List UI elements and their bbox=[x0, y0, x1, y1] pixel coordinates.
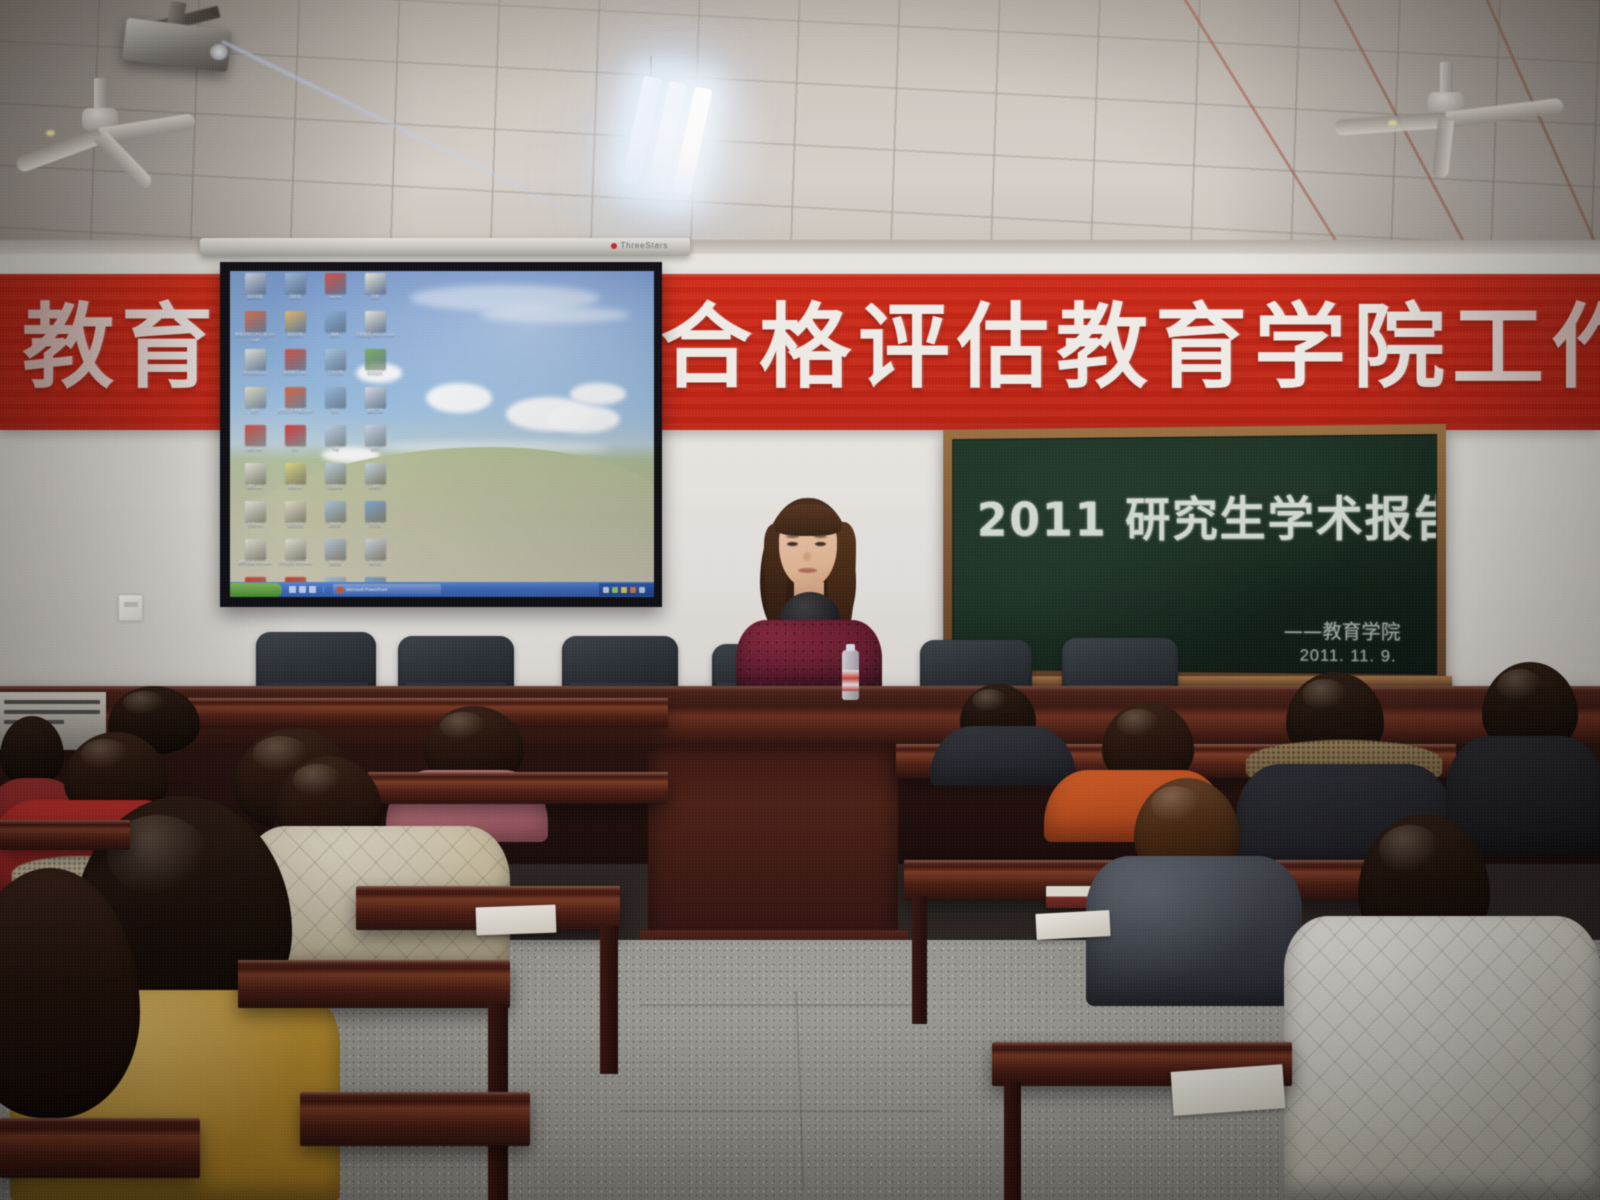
desktop-icon-label: 教学大纲 2011.doc bbox=[234, 561, 276, 566]
fan-light-glint bbox=[46, 130, 55, 136]
desktop-icon[interactable]: 报告.doc bbox=[234, 425, 276, 452]
desktop-icon-glyph bbox=[245, 387, 266, 408]
desktop-icon-glyph bbox=[365, 425, 386, 446]
desktop-icon-glyph bbox=[285, 273, 306, 294]
blackboard-attribution: ——教育学院 bbox=[1284, 620, 1401, 644]
desktop-icon[interactable]: 本科教学.doc bbox=[274, 349, 316, 376]
bottle-label bbox=[842, 670, 859, 691]
desktop-icon-glyph bbox=[365, 387, 386, 408]
desktop-icon-glyph bbox=[245, 311, 266, 332]
projector-lens-icon bbox=[210, 44, 228, 60]
desktop-icon-label: Internet bbox=[314, 295, 356, 300]
desk-leg bbox=[912, 896, 927, 1024]
presenter-eye bbox=[815, 542, 826, 546]
desktop-icon-glyph bbox=[325, 349, 346, 370]
tray-icon[interactable] bbox=[630, 587, 636, 593]
desktop-icon[interactable]: 研究生学术报告.ppt bbox=[274, 387, 316, 414]
taskbar[interactable]: Microsoft PowerPoint bbox=[230, 582, 654, 597]
desktop-icon-label: 办公室 bbox=[354, 523, 396, 528]
ceiling-fan-left bbox=[10, 78, 190, 150]
desktop-icon-glyph bbox=[325, 425, 346, 446]
desktop-icon-label: 我的电脑 bbox=[234, 295, 276, 300]
projected-desktop: 我的电脑回收站Internet文档教育学院工作汇报 2011.ppt我的文档网络… bbox=[230, 271, 654, 597]
desktop-icon-label: 我的文档 bbox=[274, 333, 316, 338]
desktop-icon[interactable]: 资料库 bbox=[314, 501, 356, 528]
desktop-icon-glyph bbox=[245, 425, 266, 446]
desktop-icon[interactable]: 教育学院工作汇报 2011.ppt bbox=[234, 311, 276, 342]
desktop-icon-glyph bbox=[365, 463, 386, 484]
blackboard-date: 2011. 11. 9. bbox=[1300, 646, 1397, 667]
desktop-icon[interactable]: 压缩包 bbox=[354, 463, 396, 490]
paper-notes bbox=[1035, 910, 1110, 940]
desktop-icon-glyph bbox=[285, 463, 306, 484]
desktop-icon-label: 名单.doc bbox=[234, 523, 276, 528]
screen-brand-text: ThreeStars bbox=[620, 241, 668, 250]
presenter-eye bbox=[787, 542, 798, 546]
floor-seam bbox=[620, 1110, 940, 1112]
desktop-icon-glyph bbox=[285, 539, 306, 560]
desktop-icon[interactable]: 通知.doc bbox=[234, 463, 276, 490]
desktop-icon[interactable]: 截图工具 bbox=[354, 387, 396, 414]
desk bbox=[0, 1118, 200, 1178]
desk bbox=[368, 772, 668, 804]
cloud-wisp bbox=[480, 307, 630, 323]
desktop-icon[interactable]: 我的电脑 bbox=[234, 273, 276, 300]
desktop-icon-glyph bbox=[365, 311, 386, 332]
blackboard-title: 2011 研究生学术报告会 bbox=[977, 493, 1437, 546]
presenter-eyebrow bbox=[814, 535, 827, 538]
banner-shadow-right bbox=[1400, 274, 1600, 430]
desktop-icon-label: 图片 bbox=[354, 447, 396, 452]
presenter-mouth bbox=[798, 568, 817, 573]
desktop-icon[interactable]: 我的文档 bbox=[274, 311, 316, 338]
desktop-icon[interactable]: 教学大纲 2011.doc bbox=[234, 539, 276, 566]
desktop-icon-label: 评估材料.doc bbox=[234, 371, 276, 376]
desktop-icon[interactable]: 会议安排 bbox=[274, 501, 316, 528]
desktop-icon-label: 回收站 bbox=[274, 295, 316, 300]
desktop-icon-glyph bbox=[365, 501, 386, 522]
screen-brand-label: ThreeStars bbox=[611, 241, 668, 250]
tray-icon[interactable] bbox=[612, 587, 618, 593]
desktop-icon-glyph bbox=[325, 539, 346, 560]
desktop-icon[interactable]: 评估材料.doc bbox=[234, 349, 276, 376]
presenter-eyebrow bbox=[786, 535, 799, 538]
desktop-icon-glyph bbox=[325, 463, 346, 484]
desktop-icon-glyph bbox=[365, 539, 386, 560]
brand-dot-icon bbox=[611, 243, 617, 249]
light-switch[interactable] bbox=[118, 594, 143, 621]
audience-torso bbox=[1086, 856, 1302, 1006]
desktop-icon-label: 会议安排 bbox=[274, 523, 316, 528]
desktop-icon[interactable]: 表格.xls bbox=[274, 463, 316, 490]
ceiling bbox=[0, 0, 1600, 250]
desktop-icon-label: 光盘驱动 bbox=[314, 485, 356, 490]
desktop-icon[interactable]: 常用软件 bbox=[354, 349, 396, 376]
desktop-icon-glyph bbox=[325, 387, 346, 408]
desktop-icon-glyph bbox=[285, 501, 306, 522]
desktop-icon[interactable]: 办公室 bbox=[354, 501, 396, 528]
desktop-icon-label: 下载 bbox=[314, 447, 356, 452]
quick-launch-bar[interactable] bbox=[287, 586, 324, 593]
desktop-icon-label: 报告.doc bbox=[234, 447, 276, 452]
fan-rod bbox=[1440, 62, 1453, 96]
desktop-icon-glyph bbox=[245, 349, 266, 370]
taskbar-window-button[interactable]: Microsoft PowerPoint bbox=[333, 584, 441, 595]
desktop-icon-label: 课件 bbox=[234, 409, 276, 414]
desktop-icon-label: 输入法 bbox=[354, 561, 396, 566]
desktop-icon[interactable]: 音乐 bbox=[314, 387, 356, 414]
podium-front-panel bbox=[648, 744, 898, 944]
desktop-icon-glyph bbox=[285, 425, 306, 446]
desktop-icon-label: 教育学院工作汇报 2011.ppt bbox=[234, 333, 276, 342]
desktop-icon-glyph bbox=[245, 273, 266, 294]
desk bbox=[238, 960, 510, 1008]
presenter-nose bbox=[803, 552, 811, 561]
desktop-icon-label: 工作计划 bbox=[314, 371, 356, 376]
desktop-icon-glyph bbox=[325, 501, 346, 522]
desktop-icon[interactable]: QQ bbox=[274, 425, 316, 452]
desktop-icon[interactable]: 课件 bbox=[234, 387, 276, 414]
paper-notes bbox=[476, 905, 557, 936]
desktop-icon-label: QQ bbox=[274, 447, 316, 452]
desktop-icon-label: 截图工具 bbox=[354, 409, 396, 414]
lecture-hall-photo: 教育硕 合格评估教育学院工作汇报会 ThreeStars 我的电脑回收站Inte… bbox=[0, 0, 1600, 1200]
desktop-icon-label: 学位论文 2011.doc bbox=[274, 561, 316, 566]
cloud bbox=[546, 405, 620, 433]
fan-rod bbox=[94, 78, 107, 112]
desktop-icon-label: 压缩包 bbox=[354, 485, 396, 490]
desktop-icon-glyph bbox=[245, 539, 266, 560]
desk bbox=[300, 1092, 530, 1146]
tray-icon[interactable] bbox=[603, 587, 609, 593]
desktop-icon-label: 开题报告 2011-11.doc bbox=[354, 333, 396, 338]
desktop-icon[interactable]: 文档 bbox=[354, 273, 396, 300]
powerpoint-icon bbox=[337, 587, 343, 593]
presenter bbox=[722, 492, 898, 698]
quick-launch-icon[interactable] bbox=[289, 586, 296, 593]
desktop-icon-glyph bbox=[325, 311, 346, 332]
desktop-icon[interactable]: 下载 bbox=[314, 425, 356, 452]
paper-notes bbox=[1171, 1064, 1286, 1116]
projection-screen[interactable]: 我的电脑回收站Internet文档教育学院工作汇报 2011.ppt我的文档网络… bbox=[220, 262, 662, 607]
desktop-icon[interactable]: 图片 bbox=[354, 425, 396, 452]
desktop-icon-glyph bbox=[365, 273, 386, 294]
desktop-icon-label: 表格.xls bbox=[274, 485, 316, 490]
desktop-icon[interactable]: 学位论文 2011.doc bbox=[274, 539, 316, 566]
desktop-icon-label: 播放器 bbox=[314, 561, 356, 566]
desktop-icon[interactable]: 光盘驱动 bbox=[314, 463, 356, 490]
desktop-icon-glyph bbox=[245, 463, 266, 484]
desktop-icon-label: 研究生学术报告.ppt bbox=[274, 409, 316, 414]
water-bottle bbox=[842, 650, 859, 700]
tray-icon[interactable] bbox=[621, 587, 627, 593]
quick-launch-icon[interactable] bbox=[309, 586, 316, 593]
desktop-icon-glyph bbox=[245, 501, 266, 522]
presenter-fringe bbox=[774, 504, 842, 536]
audience-torso bbox=[930, 726, 1076, 786]
quick-launch-icon[interactable] bbox=[299, 586, 306, 593]
desktop-icon-glyph bbox=[285, 311, 306, 332]
desktop-icon-glyph bbox=[365, 349, 386, 370]
desktop-icon-label: 本科教学.doc bbox=[274, 371, 316, 376]
projection-screen-housing: ThreeStars bbox=[200, 238, 690, 256]
desktop-icon-label: 音乐 bbox=[314, 409, 356, 414]
system-tray[interactable] bbox=[599, 583, 654, 596]
desktop-icon[interactable]: 播放器 bbox=[314, 539, 356, 566]
desktop-icon-label: 常用软件 bbox=[354, 371, 396, 376]
desktop-icon-label: 资料库 bbox=[314, 523, 356, 528]
desktop-icon[interactable]: 输入法 bbox=[354, 539, 396, 566]
floor-seam bbox=[640, 1004, 920, 1006]
banner-shadow-left bbox=[0, 274, 230, 430]
desktop-icon-glyph bbox=[325, 273, 346, 294]
desktop-icon-label: 通知.doc bbox=[234, 485, 276, 490]
bottle-cap bbox=[846, 644, 855, 651]
cloud bbox=[570, 383, 626, 405]
start-button[interactable] bbox=[230, 583, 282, 597]
desk-leg bbox=[600, 926, 618, 1074]
blackboard-surface: 2011 研究生学术报告会 ——教育学院 2011. 11. 9. bbox=[952, 434, 1437, 675]
audience-torso bbox=[1284, 916, 1600, 1200]
taskbar-window-label: Microsoft PowerPoint bbox=[346, 587, 387, 592]
desktop-icon[interactable]: 回收站 bbox=[274, 273, 316, 300]
fan-light-glint bbox=[1388, 120, 1397, 126]
desktop-icon-glyph bbox=[285, 387, 306, 408]
desktop-icon[interactable]: 工作计划 bbox=[314, 349, 356, 376]
desktop-icon[interactable]: 网络 bbox=[314, 311, 356, 338]
desk bbox=[0, 820, 130, 850]
tray-icon[interactable] bbox=[639, 587, 645, 593]
desktop-icon[interactable]: 开题报告 2011-11.doc bbox=[354, 311, 396, 338]
desktop-icon-label: 文档 bbox=[354, 295, 396, 300]
cloud bbox=[426, 383, 492, 413]
desk bbox=[188, 698, 668, 728]
desktop-icon-glyph bbox=[285, 349, 306, 370]
desktop-icon[interactable]: Internet bbox=[314, 273, 356, 300]
ceiling-fan-right bbox=[1336, 62, 1556, 140]
desktop-icon[interactable]: 名单.doc bbox=[234, 501, 276, 528]
desk-leg bbox=[1004, 1082, 1021, 1200]
desktop-icon-label: 网络 bbox=[314, 333, 356, 338]
